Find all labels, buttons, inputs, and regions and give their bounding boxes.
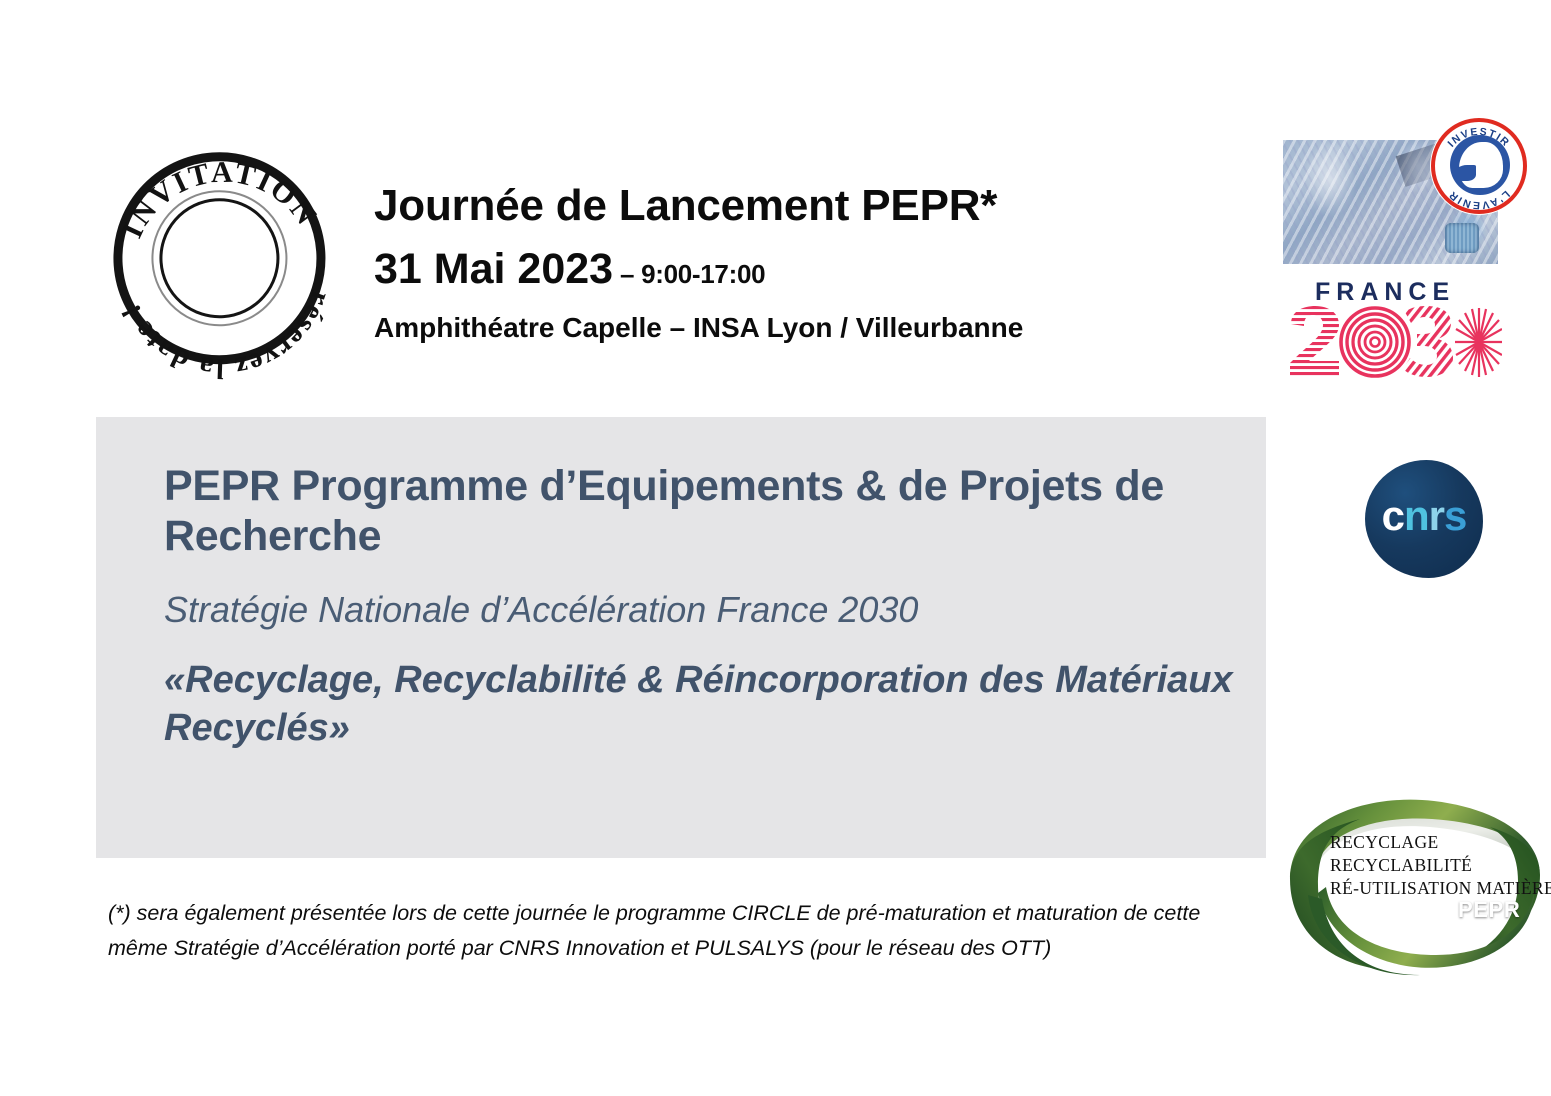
cnrs-letter-r: r: [1429, 492, 1444, 539]
cnrs-letter-c: c: [1382, 492, 1404, 539]
panel-text-block: PEPR Programme d’Equipements & de Projet…: [164, 461, 1304, 753]
year-2030-graphic: [1287, 306, 1502, 382]
digit-3: [1397, 306, 1459, 382]
footnote-line-2: même Stratégie d’Accélération porté par …: [108, 931, 1238, 966]
cnrs-logo: cnrs: [1365, 460, 1483, 578]
footnote-line-1: (*) sera également présentée lors de cet…: [108, 896, 1238, 931]
cnrs-letter-s: s: [1444, 492, 1466, 539]
pepr-logo-text: RECYCLAGE RECYCLABILITÉ RÉ-UTILISATION M…: [1330, 831, 1551, 900]
stamp-text-svg: INVITATION réservez la date !: [99, 132, 345, 387]
invitation-stamp: INVITATION réservez la date !: [99, 132, 346, 399]
event-date-line: 31 Mai 2023 – 9:00-17:00: [374, 240, 1234, 299]
event-venue: Amphithéatre Capelle – INSA Lyon / Ville…: [374, 310, 1234, 346]
event-header: Journée de Lancement PEPR* 31 Mai 2023 –…: [374, 178, 1234, 346]
digit-2: [1287, 306, 1347, 382]
pepr-logo-line2: RECYCLABILITÉ: [1330, 854, 1551, 877]
panel-subtitle: Stratégie Nationale d’Accélération Franc…: [164, 588, 1304, 631]
event-title: Journée de Lancement PEPR*: [374, 178, 1234, 234]
stamp-top-text: INVITATION: [111, 149, 325, 245]
france-2030-logo: FRANCE: [1283, 140, 1505, 386]
footnote: (*) sera également présentée lors de cet…: [108, 896, 1238, 966]
pepr-recyclage-logo: RECYCLAGE RECYCLABILITÉ RÉ-UTILISATION M…: [1268, 775, 1551, 990]
cnrs-wordmark: cnrs: [1365, 492, 1483, 540]
panel-quote-title: «Recyclage, Recyclabilité & Réincorporat…: [164, 657, 1284, 753]
event-date-separator: –: [613, 259, 641, 289]
panel-heading: PEPR Programme d’Equipements & de Projet…: [164, 461, 1304, 562]
pepr-logo-tag: PEPR: [1458, 897, 1520, 923]
cnrs-letter-n: n: [1404, 492, 1429, 539]
event-time: 9:00-17:00: [641, 259, 765, 289]
badge-top-text: INVESTIR: [1446, 126, 1513, 150]
pepr-logo-line1: RECYCLAGE: [1330, 831, 1551, 854]
digit-0-rings: [1341, 308, 1409, 376]
badge-bottom-text: L'AVENIR: [1446, 188, 1512, 211]
main-content-panel: PEPR Programme d’Equipements & de Projet…: [96, 417, 1266, 858]
france-wordmark: FRANCE: [1315, 278, 1455, 307]
event-date: 31 Mai 2023: [374, 245, 613, 293]
stamp-bottom-text: réservez la date !: [114, 285, 343, 392]
bottle-cap: [1445, 223, 1479, 253]
badge-text-svg: INVESTIR L'AVENIR: [1435, 122, 1523, 210]
digit-0-sunburst: [1455, 308, 1502, 377]
investir-lavenir-badge: INVESTIR L'AVENIR: [1431, 118, 1527, 214]
